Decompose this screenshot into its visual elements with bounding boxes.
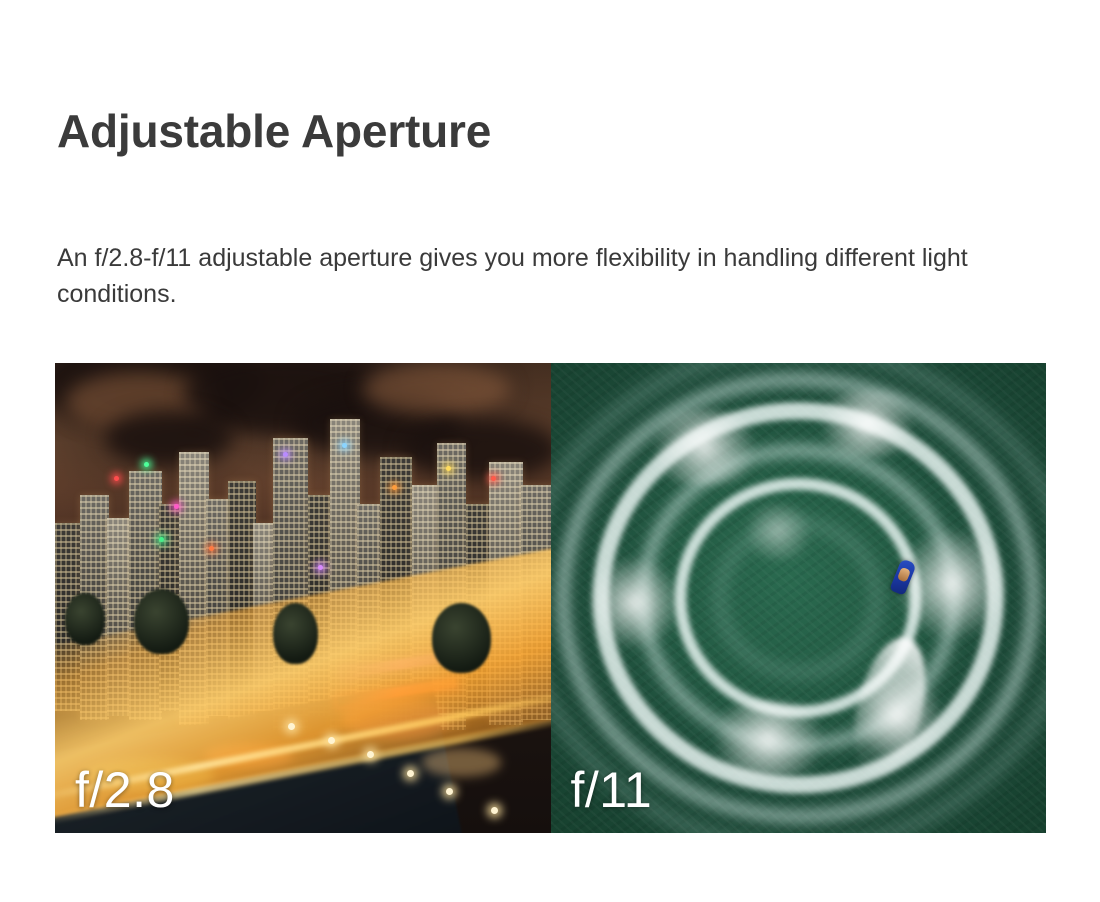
tree xyxy=(65,593,105,645)
roof-light xyxy=(491,476,496,481)
foam xyxy=(739,504,818,560)
street-lamp xyxy=(367,751,374,758)
roof-light xyxy=(159,537,164,542)
water-reflection xyxy=(422,748,501,776)
aperture-label-wide: f/2.8 xyxy=(75,765,175,815)
page-description: An f/2.8-f/11 adjustable aperture gives … xyxy=(57,241,1007,312)
foam xyxy=(897,523,1006,645)
foam xyxy=(640,410,769,485)
rider xyxy=(897,567,911,583)
tree xyxy=(432,603,491,674)
comparison-pane-wide-aperture: f/2.8 xyxy=(55,363,551,833)
street-lamp xyxy=(407,770,414,777)
roof-light xyxy=(174,504,179,509)
street-lamp xyxy=(328,737,335,744)
comparison-pane-narrow-aperture: f/11 xyxy=(551,363,1047,833)
foam xyxy=(590,551,679,654)
aperture-comparison-figure: f/2.8 xyxy=(55,363,1046,833)
street-lamp xyxy=(288,723,295,730)
foam xyxy=(808,391,927,457)
aperture-label-narrow: f/11 xyxy=(571,765,653,815)
roof-light xyxy=(209,546,214,551)
roof-light xyxy=(114,476,119,481)
tree xyxy=(134,589,189,655)
foam xyxy=(699,701,838,776)
aperture-feature-page: Adjustable Aperture An f/2.8-f/11 adjust… xyxy=(0,0,1100,902)
page-title: Adjustable Aperture xyxy=(57,105,491,158)
tree xyxy=(273,603,318,664)
roof-light xyxy=(318,565,323,570)
roof-light xyxy=(144,462,149,467)
